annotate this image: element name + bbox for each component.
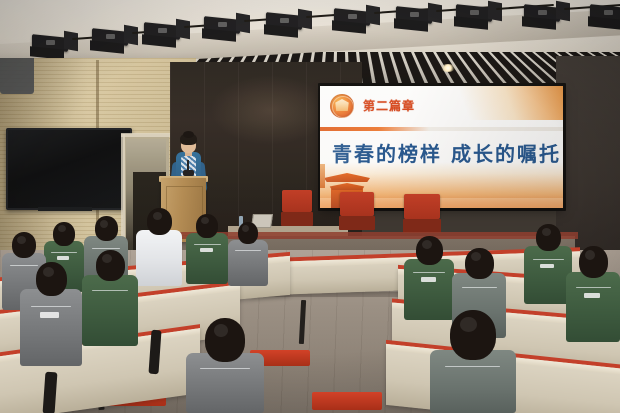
student [228,222,268,286]
uniform-stripe [31,306,71,307]
led-screen[interactable]: 第二篇章 青春的榜样 成长的嘱托 [320,86,563,208]
student-hair-highlight [585,250,595,260]
student-torso [566,272,620,342]
student-torso [20,289,82,366]
uniform-stripe [576,287,611,288]
stage-chair [404,194,440,219]
stage-light-barndoor [236,13,250,33]
stage-light-barndoor [556,1,570,21]
stage-light [140,18,202,58]
uniform-stripe [445,366,500,367]
stage-light [392,2,454,42]
stage-light-barndoor [298,9,312,29]
student-hair-highlight [242,225,249,232]
stage-light-barndoor [124,25,138,45]
uniform-back-label [57,256,69,260]
stage-chair [340,192,374,216]
uniform-stripe [235,250,261,251]
uniform-stripe [92,290,128,291]
student-torso [186,233,228,284]
stage-light-yoke [588,16,620,30]
uniform-back-label [40,312,59,318]
student-hair-highlight [471,252,481,261]
uniform-back-label [421,277,436,282]
stage-chair-seat [403,219,441,233]
stage-light [586,0,620,40]
uniform-stripe [533,259,564,260]
stage-light-lens [218,22,227,27]
back-wall-light-spill [210,75,330,145]
stage-light [452,0,514,40]
student [566,246,620,342]
ceiling-projector-housing [0,58,34,94]
stage-light [200,12,262,52]
student-head [95,216,118,241]
student-torso [228,240,268,286]
student-hair-highlight [102,254,112,263]
stage-light-barndoor [366,5,380,25]
stage-light-barndoor [64,31,78,51]
student [136,208,182,286]
presentation-slide: 第二篇章 青春的榜样 成长的嘱托 [320,86,563,208]
stage-light-barndoor [428,3,442,23]
stage-light-lens [106,34,115,39]
screen-sheen [320,86,563,208]
student-hair-highlight [17,236,26,244]
student [186,214,228,284]
student-hair-highlight [58,225,66,232]
stage-chair-seat [339,216,375,230]
student [20,262,82,366]
student-torso [524,246,572,304]
stage-light [262,8,324,48]
lecture-hall-photo: 第二篇章 青春的榜样 成长的嘱托 [0,0,620,413]
seat-cushion [312,392,382,410]
student-hair-highlight [214,324,228,337]
student-torso [186,353,264,413]
stage-light-lens [46,40,55,45]
uniform-back-label [200,248,213,252]
stage-light-lens [410,12,419,17]
student-hair-highlight [422,240,432,249]
uniform-stripe [462,287,497,288]
student-torso [136,230,182,286]
student [82,250,138,346]
student-hair-highlight [201,217,209,224]
wall-mounted-tv [6,128,132,210]
stage-light [330,4,392,44]
stage-light-lens [348,14,357,19]
uniform-back-label [540,264,554,268]
student-hair-highlight [153,212,162,220]
door-frame-top [121,133,171,137]
stage-light-lens [538,10,547,15]
uniform-stripe [194,244,221,245]
student-torso [82,275,138,346]
stage-light-lens [604,10,613,15]
student [404,236,454,320]
stage-light-lens [470,10,479,15]
uniform-stripe [144,242,173,243]
student [186,318,264,413]
student-hair-highlight [43,267,54,277]
student-hair-highlight [542,228,551,236]
stage-light-barndoor [488,1,502,21]
presenter-hair-bun [183,131,194,138]
tv-mount [38,207,92,211]
uniform-stripe [413,272,445,273]
uniform-back-label [584,293,600,298]
uniform-stripe [200,368,250,369]
student [430,310,516,413]
stage-light-barndoor [176,19,190,39]
student-hair-highlight [100,220,108,228]
stage-light-lens [158,28,167,33]
student [524,224,572,304]
student-hair-highlight [460,317,477,332]
uniform-stripe [51,252,77,253]
stage-light-lens [280,18,289,23]
uniform-stripe [92,248,120,249]
stage-light [520,0,582,40]
stage-chair-seat [281,212,313,226]
recessed-downlight [441,64,455,72]
stage-chair [282,190,312,212]
